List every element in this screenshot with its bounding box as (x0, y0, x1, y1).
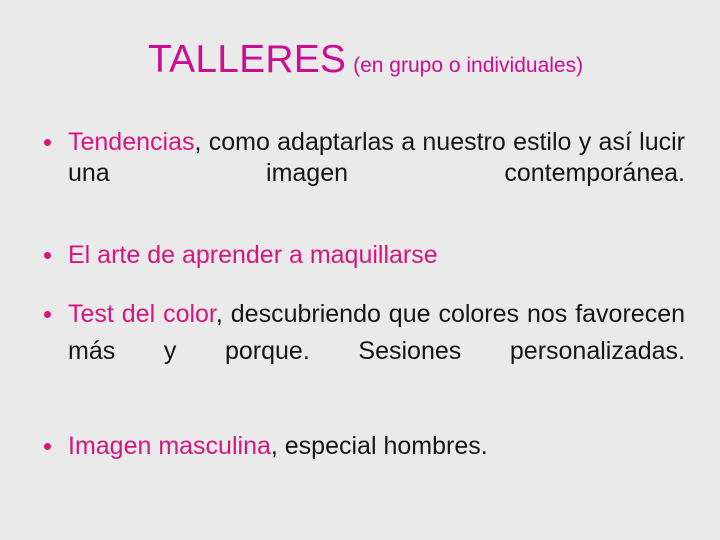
slide-canvas: TALLERES(en grupo o individuales) Tenden… (0, 0, 720, 540)
bullet-dot-icon (44, 311, 51, 318)
list-item-highlight: Test del color (68, 300, 216, 328)
page-title-main: TALLERES (148, 38, 346, 81)
list-item-highlight: El arte de aprender a maquillarse (68, 241, 438, 269)
list-item-body: , especial hombres. (271, 432, 488, 460)
list-item-text: Tendencias, como adaptarlas a nuestro es… (68, 127, 685, 220)
list-item-text: Imagen masculina, especial hombres. (68, 431, 685, 462)
page-title: TALLERES(en grupo o individuales) (148, 38, 688, 88)
list-item-highlight: Tendencias (68, 128, 194, 156)
bullet-dot-icon (44, 443, 51, 450)
list-item-text: El arte de aprender a maquillarse (68, 240, 685, 271)
list-item: El arte de aprender a maquillarse (33, 240, 685, 271)
list-item: Tendencias, como adaptarlas a nuestro es… (33, 127, 685, 220)
list-item: Imagen masculina, especial hombres. (33, 431, 685, 462)
page-title-subtitle: (en grupo o individuales) (353, 54, 583, 77)
bullet-list: Tendencias, como adaptarlas a nuestro es… (33, 127, 685, 462)
list-item-text: Test del color, descubriendo que colores… (68, 296, 685, 407)
list-item: Test del color, descubriendo que colores… (33, 296, 685, 407)
list-item-highlight: Imagen masculina (68, 432, 271, 460)
bullet-dot-icon (44, 252, 51, 259)
bullet-dot-icon (44, 139, 51, 146)
